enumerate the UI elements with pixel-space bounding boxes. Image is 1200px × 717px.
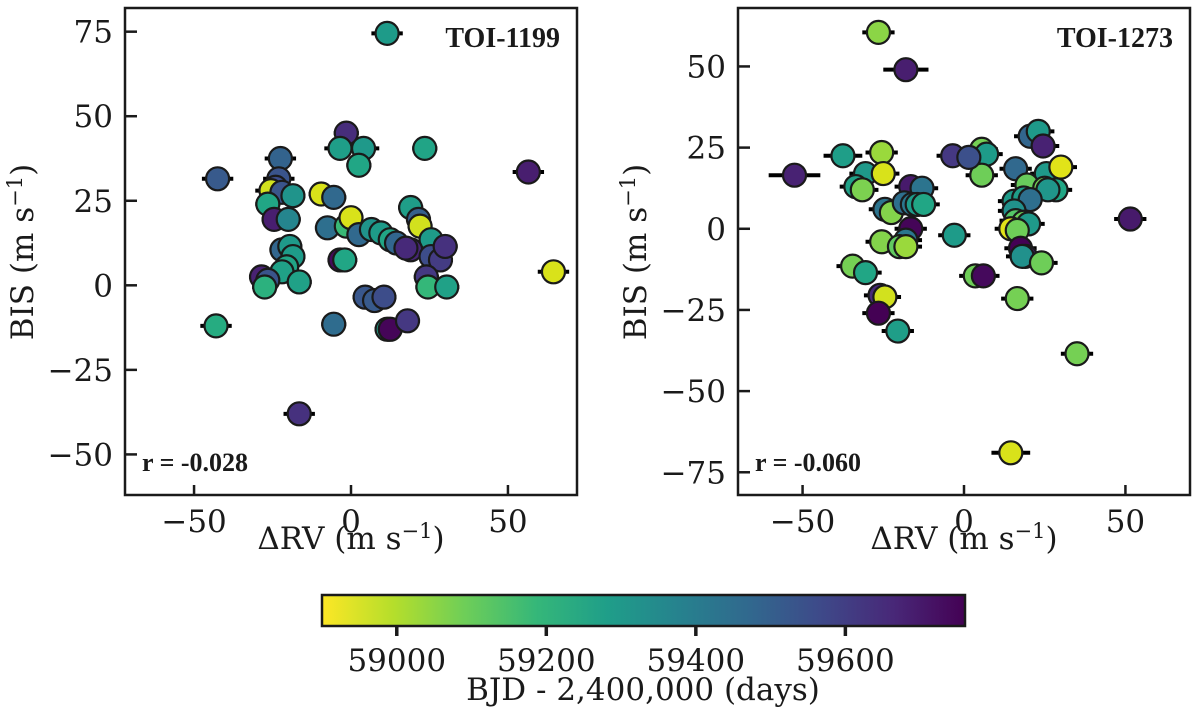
scatter-point[interactable]	[851, 178, 874, 201]
scatter-point[interactable]	[281, 184, 304, 207]
y-tick-label: 75	[74, 15, 113, 51]
y-axis-label-left-post: )	[5, 164, 41, 176]
correlation-annotation-left: r = -0.028	[142, 448, 248, 477]
scatter-point[interactable]	[542, 260, 565, 283]
scatter-point[interactable]	[322, 313, 345, 336]
colorbar-label: BJD - 2,400,000 (days)	[466, 672, 820, 708]
scatter-point[interactable]	[867, 302, 890, 325]
scatter-point[interactable]	[912, 193, 935, 216]
y-axis-label-right-post: )	[618, 164, 654, 176]
panel-title-right: TOI-1273	[1057, 23, 1173, 54]
scatter-point[interactable]	[517, 161, 540, 184]
scatter-point[interactable]	[872, 162, 895, 185]
scatter-point[interactable]	[783, 164, 806, 187]
scatter-point[interactable]	[1006, 287, 1029, 310]
scatter-point[interactable]	[999, 441, 1022, 464]
scatter-point[interactable]	[347, 154, 370, 177]
y-tick-label: −50	[48, 437, 113, 473]
x-axis-label-right-sup: −1	[1015, 519, 1046, 543]
x-axis-label-left-post: )	[432, 521, 444, 557]
scatter-point[interactable]	[253, 276, 276, 299]
scatter-point[interactable]	[1032, 134, 1055, 157]
scatter-point[interactable]	[867, 21, 890, 44]
scatter-point[interactable]	[322, 186, 345, 209]
scatter-point[interactable]	[396, 309, 419, 332]
y-tick-label: 0	[93, 268, 113, 304]
scatter-point[interactable]	[943, 224, 966, 247]
x-axis-label-left-pre: ΔRV (m s	[257, 521, 401, 557]
scatter-point[interactable]	[288, 270, 311, 293]
x-axis-label-right-post: )	[1045, 521, 1057, 557]
scatter-point[interactable]	[288, 402, 311, 425]
scatter-point[interactable]	[372, 286, 395, 309]
y-axis-label-left-sup: −1	[3, 176, 27, 207]
y-tick-label: 0	[706, 212, 726, 248]
y-tick-label: 50	[74, 99, 113, 135]
y-axis-label-right-sup: −1	[616, 176, 640, 207]
scatter-point[interactable]	[1066, 342, 1089, 365]
y-tick-label: −75	[661, 455, 726, 491]
y-tick-label: 25	[74, 184, 113, 220]
scatter-point[interactable]	[205, 314, 228, 337]
y-tick-label: 50	[687, 49, 726, 85]
y-axis-label-right-pre: BIS (m s	[618, 207, 654, 340]
scatter-point[interactable]	[333, 248, 356, 271]
scatter-point[interactable]	[894, 58, 917, 81]
x-tick-label: 50	[1106, 504, 1145, 540]
colorbar-tick-label: 59000	[347, 643, 446, 679]
scatter-point[interactable]	[206, 167, 229, 190]
scatter-point[interactable]	[277, 208, 300, 231]
scatter-point[interactable]	[886, 320, 909, 343]
y-tick-label: −50	[661, 374, 726, 410]
scatter-point[interactable]	[435, 276, 458, 299]
scatter-point[interactable]	[854, 261, 877, 284]
x-tick-label: −50	[770, 504, 835, 540]
scatter-point[interactable]	[870, 141, 893, 164]
scatter-point[interactable]	[1030, 251, 1053, 274]
scatter-point[interactable]	[894, 235, 917, 258]
x-axis-label-right-pre: ΔRV (m s	[870, 521, 1014, 557]
y-axis-label-left-pre: BIS (m s	[5, 207, 41, 340]
scatter-point[interactable]	[957, 146, 980, 169]
scatter-point[interactable]	[1049, 156, 1072, 179]
x-tick-label: 50	[488, 504, 527, 540]
scatter-point[interactable]	[376, 22, 399, 45]
correlation-annotation-right: r = -0.060	[755, 448, 861, 477]
scatter-point[interactable]	[434, 235, 457, 258]
y-tick-label: −25	[661, 293, 726, 329]
y-tick-label: 25	[687, 131, 726, 167]
x-tick-label: −50	[161, 504, 226, 540]
x-axis-label-left-sup: −1	[402, 519, 433, 543]
scatter-point[interactable]	[1119, 208, 1142, 231]
scatter-point[interactable]	[394, 237, 417, 260]
scatter-point[interactable]	[972, 264, 995, 287]
scatter-point[interactable]	[413, 137, 436, 160]
colorbar-gradient	[322, 595, 965, 626]
figure-svg: −500507550250−25−50 TOI-1199 r = -0.028 …	[0, 0, 1200, 717]
scatter-point[interactable]	[329, 137, 352, 160]
y-tick-label: −25	[48, 353, 113, 389]
panel-title-left: TOI-1199	[445, 23, 560, 54]
scatter-point[interactable]	[831, 144, 854, 167]
figure-root: −500507550250−25−50 TOI-1199 r = -0.028 …	[0, 0, 1200, 717]
